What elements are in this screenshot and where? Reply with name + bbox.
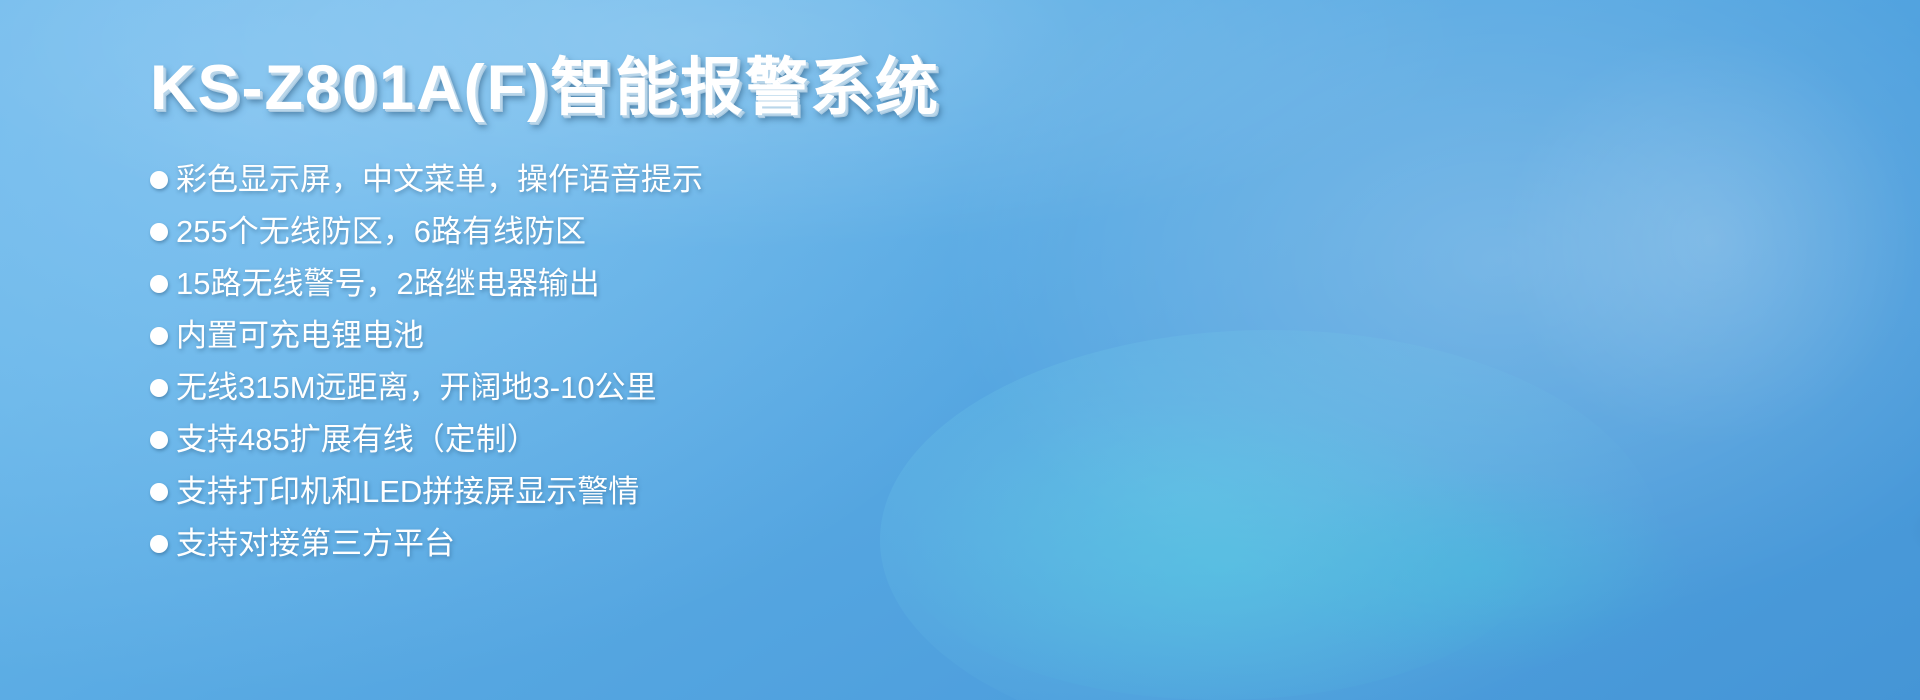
- bullet-icon: [150, 379, 168, 397]
- list-item: 支持打印机和LED拼接屏显示警情: [150, 472, 950, 513]
- bullet-icon: [150, 223, 168, 241]
- feature-text: 支持打印机和LED拼接屏显示警情: [176, 472, 639, 513]
- list-item: 彩色显示屏，中文菜单，操作语音提示: [150, 160, 950, 201]
- list-item: 支持485扩展有线（定制）: [150, 420, 950, 461]
- feature-text: 内置可充电锂电池: [176, 316, 424, 357]
- copy-block: KS-Z801A(F)智能报警系统 彩色显示屏，中文菜单，操作语音提示 255个…: [150, 52, 950, 576]
- feature-text: 支持485扩展有线（定制）: [176, 420, 538, 461]
- bullet-icon: [150, 327, 168, 345]
- bullet-icon: [150, 171, 168, 189]
- feature-text: 255个无线防区，6路有线防区: [176, 212, 586, 253]
- bullet-icon: [150, 431, 168, 449]
- feature-list: 彩色显示屏，中文菜单，操作语音提示 255个无线防区，6路有线防区 15路无线警…: [150, 160, 950, 564]
- list-item: 无线315M远距离，开阔地3-10公里: [150, 368, 950, 409]
- feature-text: 支持对接第三方平台: [176, 524, 455, 565]
- list-item: 内置可充电锂电池: [150, 316, 950, 357]
- product-banner: KS-Z801A(F)智能报警系统 彩色显示屏，中文菜单，操作语音提示 255个…: [0, 0, 1920, 700]
- page-title: KS-Z801A(F)智能报警系统: [150, 52, 950, 124]
- product-photo: 22:27 01-01-01 电源 布防 故障 通讯 火警 1 2 3 A 4 …: [940, 0, 1920, 700]
- list-item: 支持对接第三方平台: [150, 524, 950, 565]
- bullet-icon: [150, 535, 168, 553]
- list-item: 255个无线防区，6路有线防区: [150, 212, 950, 253]
- product-drop-shadow: [1905, 470, 1920, 590]
- feature-text: 彩色显示屏，中文菜单，操作语音提示: [176, 160, 703, 201]
- feature-text: 无线315M远距离，开阔地3-10公里: [176, 368, 657, 409]
- feature-text: 15路无线警号，2路继电器输出: [176, 264, 600, 305]
- list-item: 15路无线警号，2路继电器输出: [150, 264, 950, 305]
- bullet-icon: [150, 483, 168, 501]
- bullet-icon: [150, 275, 168, 293]
